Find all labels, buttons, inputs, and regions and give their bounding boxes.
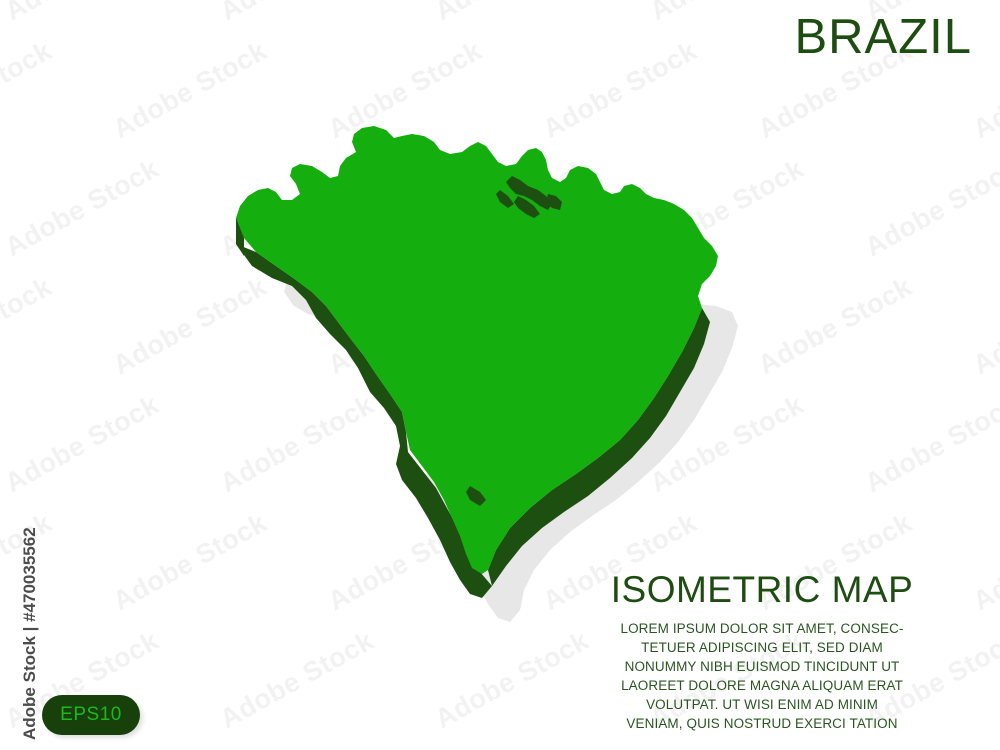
caption-body-line-5: VOLUTPAT. UT WISI ENIM AD MINIM	[552, 695, 972, 714]
eps10-badge[interactable]: EPS10	[42, 695, 140, 735]
caption-body: LOREM IPSUM DOLOR SIT AMET, CONSEC-TETUE…	[552, 619, 972, 734]
map-top-face	[236, 126, 718, 574]
poster-canvas: Adobe StockAdobe StockAdobe StockAdobe S…	[0, 0, 1000, 750]
caption-body-line-4: LAOREET DOLORE MAGNA ALIQUAM ERAT	[552, 676, 972, 695]
stock-id-text: Adobe Stock | #470035562	[20, 440, 40, 740]
caption-heading: ISOMETRIC MAP	[552, 570, 972, 611]
eps10-badge-label: EPS10	[60, 704, 122, 726]
page-title-country: BRAZIL	[794, 12, 972, 63]
caption-block: ISOMETRIC MAP LOREM IPSUM DOLOR SIT AMET…	[552, 570, 972, 734]
caption-body-line-1: LOREM IPSUM DOLOR SIT AMET, CONSEC-	[552, 619, 972, 638]
caption-body-line-3: NONUMMY NIBH EUISMOD TINCIDUNT UT	[552, 657, 972, 676]
caption-body-line-6: VENIAM, QUIS NOSTRUD EXERCI TATION	[552, 714, 972, 733]
caption-body-line-2: TETUER ADIPISCING ELIT, SED DIAM	[552, 638, 972, 657]
stock-id-vertical: Adobe Stock | #470035562	[0, 0, 44, 750]
